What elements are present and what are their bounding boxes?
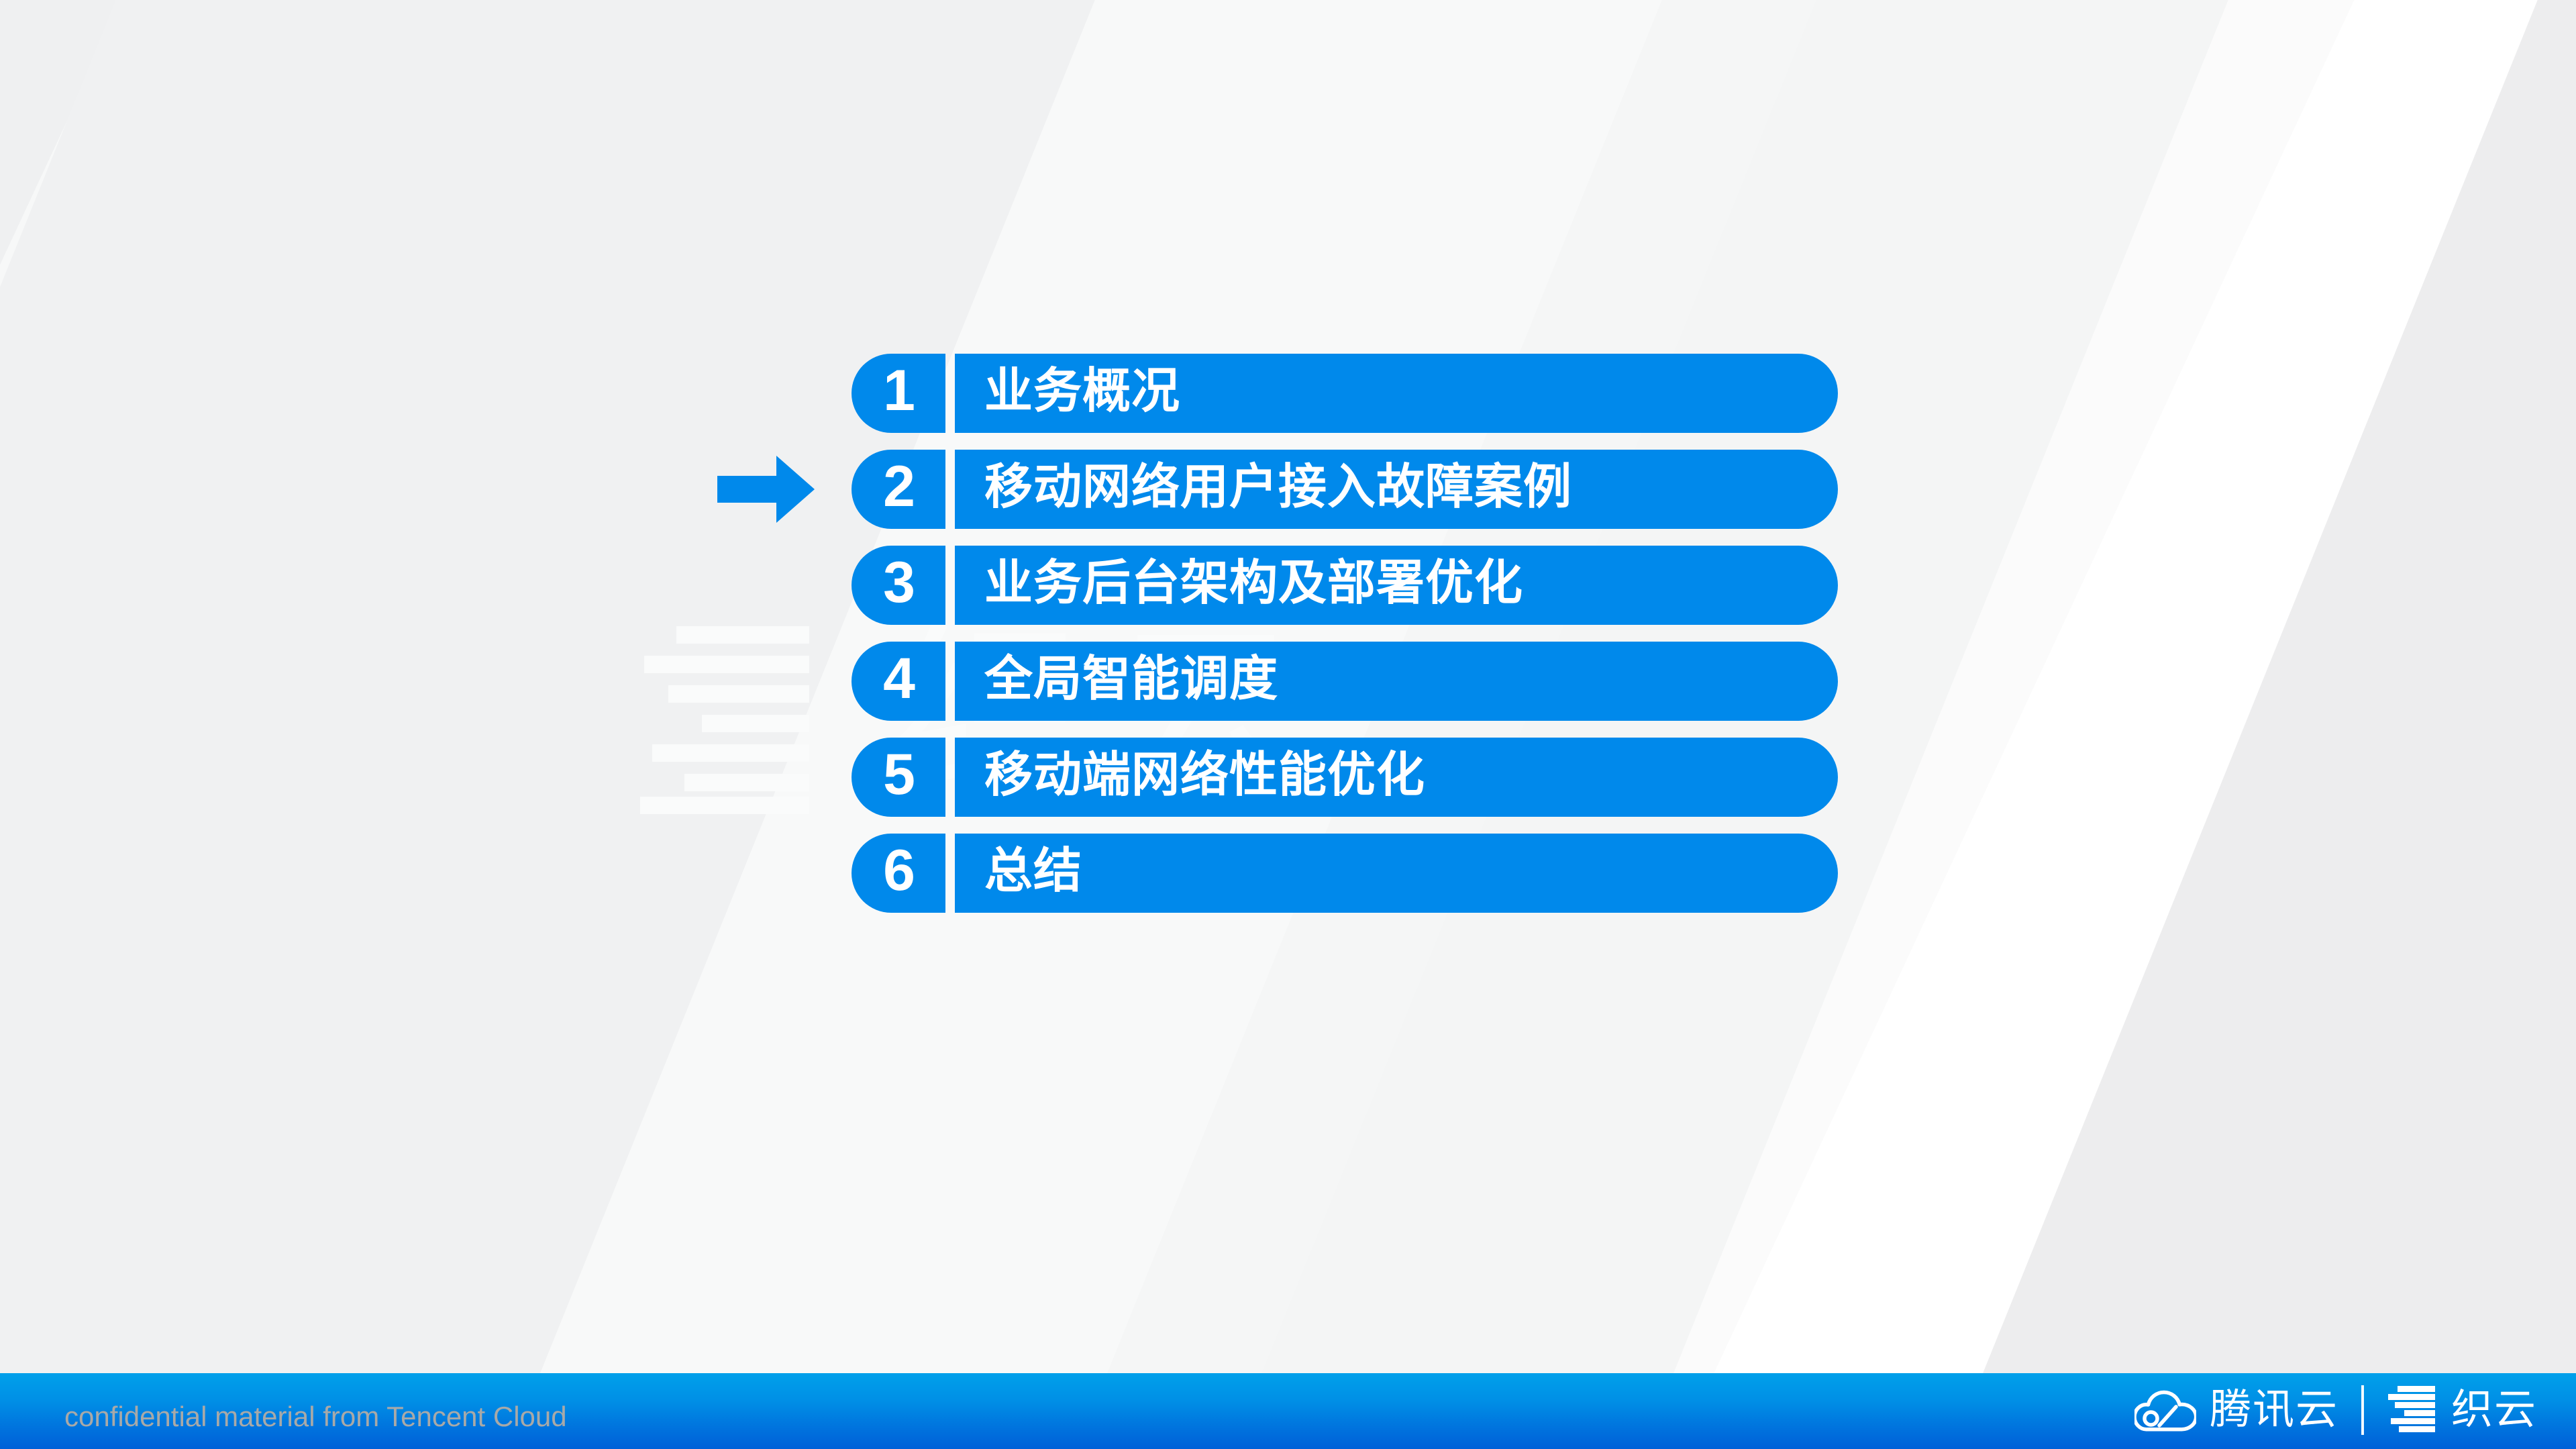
zhiyun-logo: 织云 (2387, 1385, 2537, 1436)
agenda-number-badge: 6 (852, 834, 945, 913)
badge-body-gap (945, 450, 955, 529)
agenda-row-label: 总结 (984, 847, 1082, 895)
agenda-number: 3 (883, 554, 914, 611)
badge-body-gap (945, 834, 955, 913)
slide-canvas: 织云 1 业务概况 2 (0, 0, 2576, 1449)
agenda-row-5[interactable]: 5 移动端网络性能优化 (852, 738, 1838, 817)
tencent-cloud-wordmark: 腾讯云 (2210, 1389, 2338, 1431)
agenda-row-body[interactable]: 业务概况 (955, 354, 1838, 433)
badge-body-gap (945, 354, 955, 433)
agenda-number-badge: 3 (852, 546, 945, 625)
agenda-number-badge: 5 (852, 738, 945, 817)
agenda-number: 2 (883, 458, 914, 515)
current-section-arrow-icon (717, 456, 815, 523)
badge-body-gap (945, 642, 955, 721)
agenda-number-badge: 2 (852, 450, 945, 529)
zhiyun-mark-icon (2387, 1385, 2438, 1436)
agenda-number: 6 (883, 842, 914, 899)
agenda-row-label: 业务后台架构及部署优化 (984, 559, 1523, 607)
slide-footer: confidential material from Tencent Cloud… (0, 1373, 2576, 1449)
agenda-row-label: 全局智能调度 (984, 655, 1278, 703)
badge-body-gap (945, 546, 955, 625)
agenda-row-body[interactable]: 移动网络用户接入故障案例 (955, 450, 1838, 529)
agenda-row-6[interactable]: 6 总结 (852, 834, 1838, 913)
agenda-row-3[interactable]: 3 业务后台架构及部署优化 (852, 546, 1838, 625)
tencent-cloud-logo: 腾讯云 (2134, 1387, 2338, 1434)
agenda-list: 1 业务概况 2 移动网络用户接入故障案例 (852, 354, 1838, 913)
agenda-number: 5 (883, 746, 914, 803)
agenda-row-label: 移动端网络性能优化 (984, 751, 1425, 799)
zhiyun-wordmark: 织云 (2451, 1389, 2537, 1431)
tencent-cloud-icon (2134, 1387, 2196, 1434)
badge-body-gap (945, 738, 955, 817)
agenda-row-body[interactable]: 业务后台架构及部署优化 (955, 546, 1838, 625)
agenda-number-badge: 1 (852, 354, 945, 433)
footer-logo-group: 腾讯云 织云 (2134, 1385, 2537, 1436)
confidential-note: confidential material from Tencent Cloud (64, 1403, 567, 1431)
agenda-row-body[interactable]: 移动端网络性能优化 (955, 738, 1838, 817)
agenda-row-body[interactable]: 总结 (955, 834, 1838, 913)
agenda-number-badge: 4 (852, 642, 945, 721)
agenda-number: 1 (883, 362, 914, 419)
agenda-row-label: 业务概况 (984, 367, 1180, 415)
agenda-row-4[interactable]: 4 全局智能调度 (852, 642, 1838, 721)
agenda-number: 4 (883, 650, 914, 707)
agenda-row-1[interactable]: 1 业务概况 (852, 354, 1838, 433)
agenda-row-label: 移动网络用户接入故障案例 (984, 463, 1572, 511)
agenda-row-2[interactable]: 2 移动网络用户接入故障案例 (852, 450, 1838, 529)
agenda-row-body[interactable]: 全局智能调度 (955, 642, 1838, 721)
logo-divider (2361, 1385, 2364, 1435)
